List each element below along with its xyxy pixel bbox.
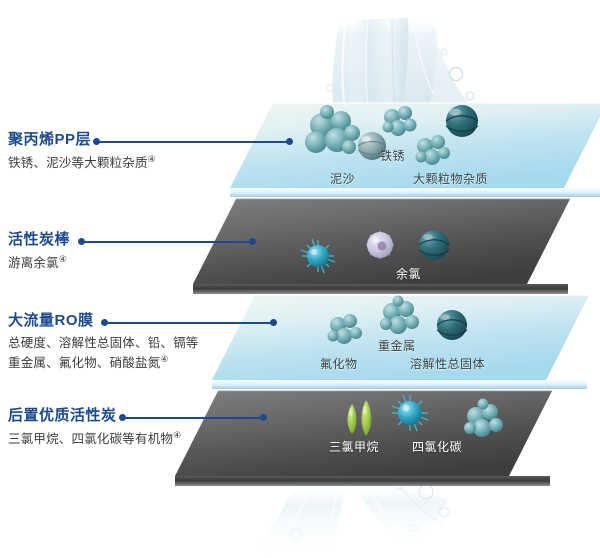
stage-2-desc-mark: ④ <box>59 254 67 264</box>
stage-4-desc-text: 三氯甲烷、四氯化碳等有机物 <box>8 432 173 446</box>
particle-fluoride-clump <box>328 314 363 344</box>
stage-3-desc-text-2: 重金属、氟化物、硝酸盐氮 <box>8 357 160 371</box>
stage-label-3[interactable]: 大流量RO膜 总硬度、溶解性总固体、铅、镉等重金属、氟化物、硝酸盐氮④ <box>8 313 238 374</box>
particle-rust-clump <box>383 106 417 136</box>
filter-plate-2 <box>188 192 563 307</box>
stage-3-desc-text: 总硬度、溶解性总固体、铅、镉等 <box>8 336 199 350</box>
stage-3-title: 大流量RO膜 <box>8 313 238 328</box>
particle-sphere-dark <box>446 105 478 137</box>
stage-label-4[interactable]: 后置优质活性炭 三氯甲烷、四氯化碳等有机物④ <box>8 408 238 450</box>
plate-4-caption-carbon-tetrachloride: 四氯化碳 <box>412 441 462 453</box>
stage-1-title: 聚丙烯PP层 <box>8 132 238 147</box>
particle-sphere-dark-2 <box>419 230 449 260</box>
particle-large-clump <box>416 135 451 165</box>
leader-dot-end-4 <box>260 414 267 421</box>
stage-4-desc-mark: ④ <box>173 430 181 440</box>
plate-3-caption-fluoride: 氟化物 <box>320 358 358 370</box>
stage-3-desc: 总硬度、溶解性总固体、铅、镉等重金属、氟化物、硝酸盐氮④ <box>8 334 238 374</box>
stage-2-desc-text: 游离余氯 <box>8 256 59 270</box>
particle-sediment-clump <box>305 105 360 154</box>
stage-label-1[interactable]: 聚丙烯PP层 铁锈、泥沙等大颗粒杂质④ <box>8 132 238 174</box>
stage-2-title: 活性炭棒 <box>8 232 238 247</box>
stage-1-desc-mark: ④ <box>148 154 156 164</box>
stage-1-desc-text: 铁锈、泥沙等大颗粒杂质 <box>8 156 148 170</box>
plate-1-caption-sediment: 泥沙 <box>330 173 355 185</box>
particle-heavy-metal-clump <box>380 296 419 335</box>
plate-2-particles <box>0 0 600 558</box>
particle-tds-sphere <box>437 310 467 340</box>
filter-plate-1 <box>225 96 600 211</box>
stage-2-desc: 游离余氯④ <box>8 253 238 274</box>
plate-3-caption-tds: 溶解性总固体 <box>410 358 485 370</box>
plate-2-caption-residual-chlorine: 余氯 <box>396 268 421 280</box>
particle-amoeba <box>366 231 394 259</box>
stage-4-desc: 三氯甲烷、四氯化碳等有机物④ <box>8 429 238 450</box>
plate-1-caption-particulates: 大颗粒物杂质 <box>413 173 488 185</box>
leader-dot-end-2 <box>249 238 256 245</box>
particle-organic-clump <box>464 399 503 438</box>
plate-1-caption-rust: 铁锈 <box>380 150 405 162</box>
plate-1-particles <box>0 0 600 558</box>
particle-virus-teal <box>301 239 335 273</box>
stage-1-desc: 铁锈、泥沙等大颗粒杂质④ <box>8 153 238 174</box>
stage-3-desc-mark: ④ <box>160 354 168 364</box>
leader-dot-end-1 <box>286 138 293 145</box>
water-stream-background <box>0 0 600 558</box>
plate-3-particles <box>0 0 600 558</box>
plate-4-caption-trichloromethane: 三氯甲烷 <box>329 441 379 453</box>
stage-4-title: 后置优质活性炭 <box>8 408 238 423</box>
filtration-diagram: 铁锈 泥沙 大颗粒物杂质 <box>0 0 600 558</box>
stage-label-2[interactable]: 活性炭棒 游离余氯④ <box>8 232 238 274</box>
plate-4-particles <box>0 0 600 558</box>
plate-3-caption-heavy-metal: 重金属 <box>378 340 416 352</box>
particle-bacteria-green <box>348 400 372 436</box>
leader-dot-end-3 <box>270 319 277 326</box>
particle-virus-teal-2 <box>392 395 428 431</box>
